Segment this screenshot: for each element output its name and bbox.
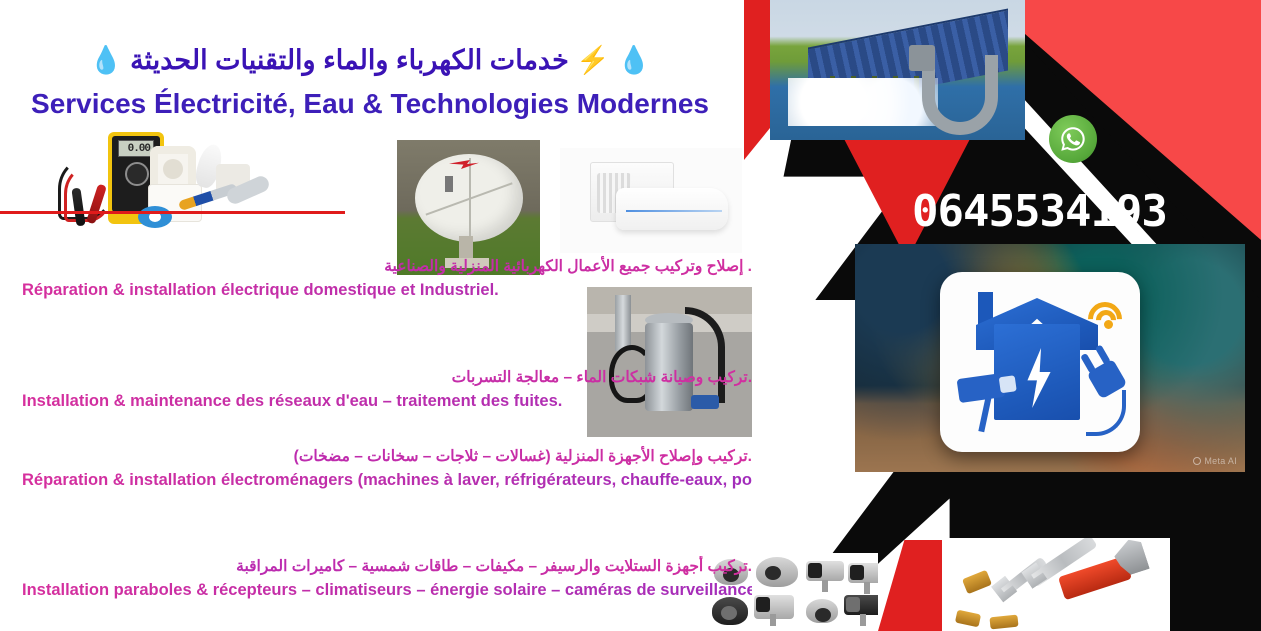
service-item-appliances: .تركيب وإصلاح الأجهزة المنزلية (غسالات –… (22, 446, 752, 493)
pump-riser-pipe (615, 295, 631, 351)
dome-camera (756, 557, 798, 587)
multimeter-reading: 0.00 (128, 143, 150, 155)
service-arabic: .تركيب وصيانة شبكات الماء – معالجة التسر… (22, 367, 752, 389)
meta-watermark-label: Meta AI (1204, 456, 1237, 466)
bullet-camera (844, 595, 878, 615)
bullet-camera (848, 563, 878, 583)
service-french: Installation & maintenance des réseaux d… (22, 389, 752, 414)
electrical-tools-photo: 0.00 (30, 128, 300, 238)
dish-reflector (415, 154, 523, 242)
wifi-icon (1086, 300, 1130, 344)
service-item-water: .تركيب وصيانة شبكات الماء – معالجة التسر… (22, 367, 752, 414)
service-arabic: .تركيب وإصلاح الأجهزة المنزلية (غسالات –… (22, 446, 752, 468)
dish-lnb (445, 176, 453, 192)
service-item-satellite-solar-cctv: .تركيب أجهزة الستلايت والرسيفر – مكيفات … (22, 556, 752, 603)
brass-fitting (955, 610, 981, 628)
headline-french: Services Électricité, Eau & Technologies… (0, 88, 740, 120)
red-divider-line (0, 211, 345, 214)
brand-logo-photo: Meta AI (855, 244, 1245, 472)
multimeter-display: 0.00 (118, 140, 154, 157)
power-cord-icon (1086, 390, 1126, 436)
service-french: Réparation & installation électrique dom… (22, 278, 752, 303)
brass-fitting (989, 615, 1018, 630)
plumbing-tools-photo (942, 538, 1170, 631)
speed-dome-camera (806, 599, 838, 623)
water-pipe (922, 55, 998, 135)
headline-arabic: 💧 ⚡ خدمات الكهرباء والماء والتقنيات الحد… (0, 44, 740, 76)
meta-ai-watermark: Meta AI (1193, 456, 1237, 466)
multimeter-dial (125, 162, 149, 186)
ac-accent-stripe (626, 210, 722, 212)
phone-number[interactable]: 0645534193 (912, 186, 1252, 237)
water-pump-photo (587, 287, 752, 437)
service-french: Réparation & installation électroménager… (22, 468, 752, 493)
service-item-electrical: . إصلاح وتركيب جميع الأعمال الكهربائية ا… (22, 256, 752, 303)
service-arabic: . إصلاح وتركيب جميع الأعمال الكهربائية ا… (22, 256, 752, 278)
camera-arm-icon (978, 396, 991, 432)
solar-water-photo (770, 0, 1025, 140)
bullet-camera (806, 561, 844, 581)
air-conditioner-photo (560, 148, 742, 253)
water-foam (788, 78, 938, 126)
logo-card (940, 272, 1140, 452)
service-french: Installation paraboles & récepteurs – cl… (22, 578, 752, 603)
whatsapp-icon[interactable] (1049, 115, 1097, 163)
meta-logo-icon (1193, 457, 1201, 465)
brass-fitting (962, 570, 992, 595)
insulating-tape (138, 206, 172, 228)
poster-canvas: 0.00 (0, 0, 1261, 631)
service-arabic: .تركيب أجهزة الستلايت والرسيفر – مكيفات … (22, 556, 752, 578)
ac-indoor-unit (616, 188, 728, 230)
ptz-camera (754, 595, 794, 619)
satellite-dish-photo (397, 140, 540, 275)
